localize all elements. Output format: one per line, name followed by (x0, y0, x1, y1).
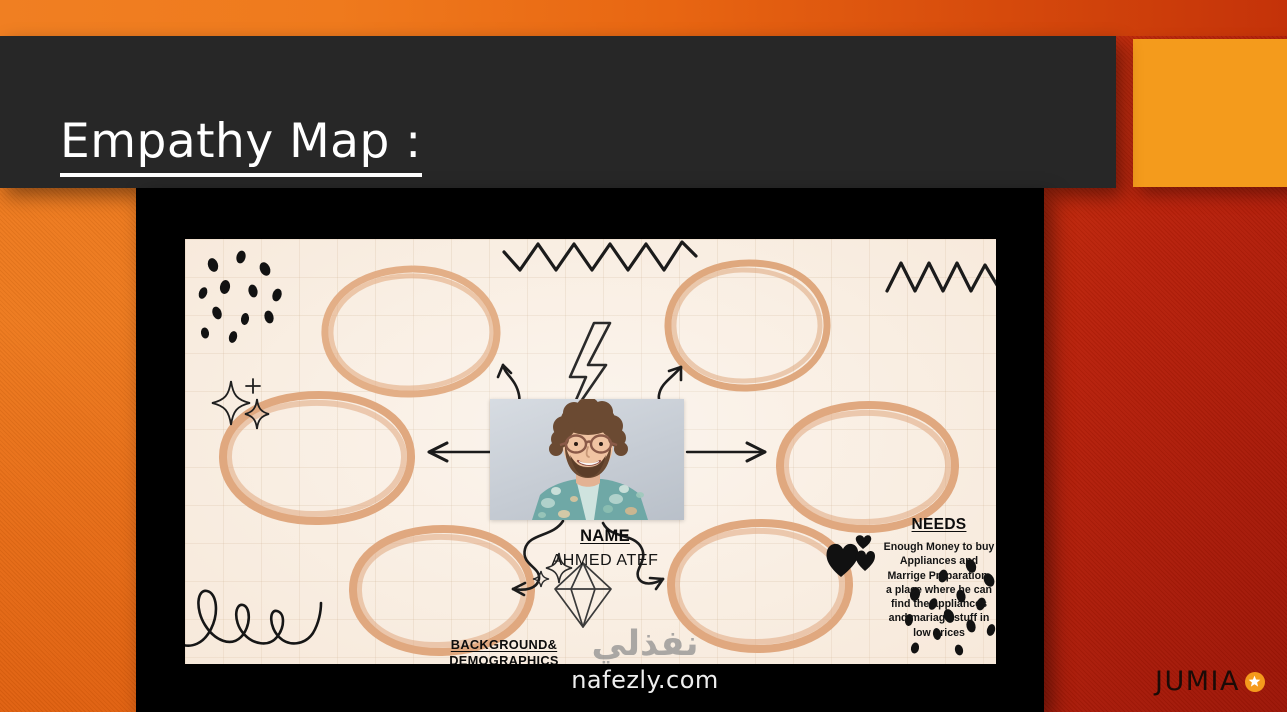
watermark-arabic: نفذلي (560, 627, 730, 662)
watermark-latin: nafezly.com (560, 666, 730, 694)
section-name-heading: NAME (515, 526, 695, 546)
accent-card-orange (1133, 39, 1287, 187)
jumia-wordmark: JUMIA (1155, 668, 1240, 695)
page-title: Empathy Map : (60, 118, 422, 177)
top-orange-stripe (0, 0, 1287, 36)
section-barriers-heading: BARRIERS (973, 651, 996, 664)
circle-background-demographics (215, 389, 419, 527)
persona-photo (490, 399, 684, 520)
persona-illustration (490, 399, 684, 520)
watermark: نفذلي nafezly.com (560, 627, 730, 694)
jumia-logo: JUMIA (1155, 668, 1265, 695)
circle-barriers (773, 399, 963, 535)
section-needs-body: Enough Money to buy Appliances and Marri… (855, 540, 996, 640)
section-name-body: AHMED ATEF (515, 551, 695, 572)
star-icon (1248, 675, 1261, 688)
circle-name (318, 262, 504, 402)
jumia-star-badge (1245, 672, 1265, 692)
section-needs-heading: NEEDS (855, 516, 996, 535)
section-barriers: BARRIERS His financial position high pri… (973, 651, 996, 664)
section-needs: NEEDS Enough Money to buy Appliances and… (855, 516, 996, 640)
circle-needs (661, 257, 833, 397)
slide-canvas: Empathy Map : (0, 0, 1287, 712)
title-bar: Empathy Map : (0, 36, 1116, 188)
section-name: NAME AHMED ATEF (515, 526, 695, 572)
